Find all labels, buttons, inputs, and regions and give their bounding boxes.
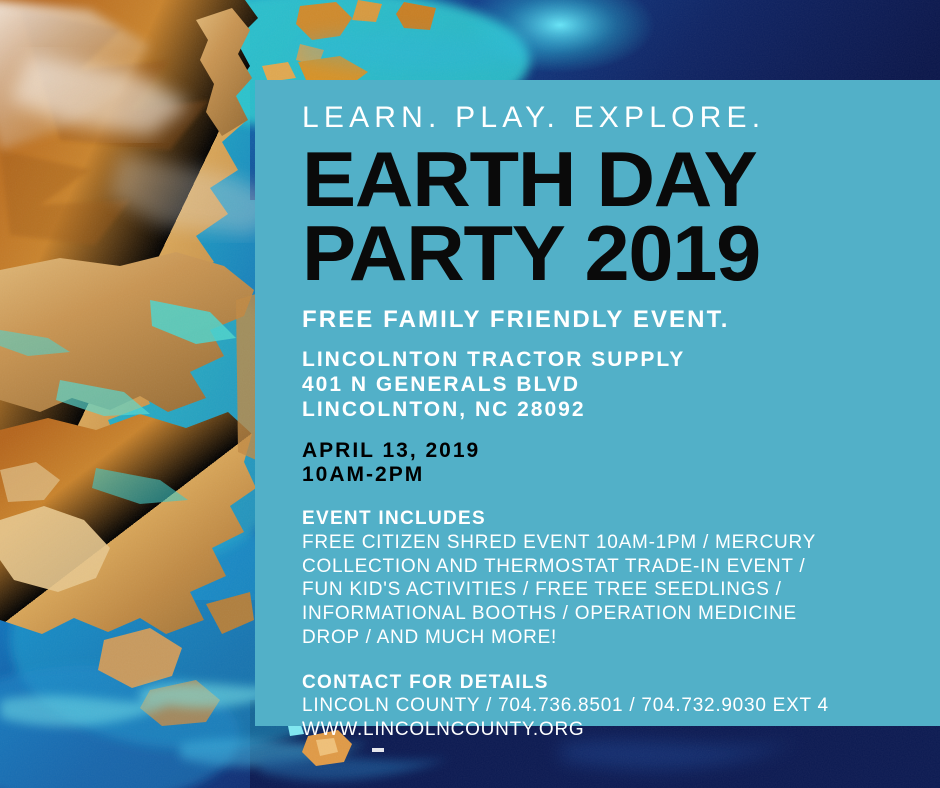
headline-line-1: EARTH DAY — [302, 143, 920, 216]
includes-line-4: INFORMATIONAL BOOTHS / OPERATION MEDICIN… — [302, 602, 896, 626]
venue-block: LINCOLNTON TRACTOR SUPPLY 401 N GENERALS… — [302, 348, 896, 422]
venue-street: 401 N GENERALS BLVD — [302, 373, 896, 398]
event-includes-block: EVENT INCLUDES FREE CITIZEN SHRED EVENT … — [302, 507, 896, 650]
earth-day-poster: LEARN. PLAY. EXPLORE. EARTH DAY PARTY 20… — [0, 0, 940, 788]
page-title: EARTH DAY PARTY 2019 — [302, 143, 920, 290]
eyebrow-tagline: LEARN. PLAY. EXPLORE. — [302, 102, 896, 134]
event-date: APRIL 13, 2019 — [302, 439, 896, 464]
includes-line-5: DROP / AND MUCH MORE! — [302, 626, 896, 650]
includes-line-3: FUN KID'S ACTIVITIES / FREE TREE SEEDLIN… — [302, 578, 896, 602]
free-event-tagline: FREE FAMILY FRIENDLY EVENT. — [302, 307, 896, 333]
event-time: 10AM-2PM — [302, 463, 896, 488]
contact-phone-line: LINCOLN COUNTY / 704.736.8501 / 704.732.… — [302, 694, 896, 718]
schedule-block: APRIL 13, 2019 10AM-2PM — [302, 439, 896, 489]
includes-line-2: COLLECTION AND THERMOSTAT TRADE-IN EVENT… — [302, 555, 896, 579]
contact-block: CONTACT FOR DETAILS LINCOLN COUNTY / 704… — [302, 671, 896, 743]
includes-line-1: FREE CITIZEN SHRED EVENT 10AM-1PM / MERC… — [302, 531, 896, 555]
contact-website[interactable]: WWW.LINCOLNCOUNTY.ORG — [302, 718, 896, 742]
event-includes-title: EVENT INCLUDES — [302, 507, 896, 531]
contact-title: CONTACT FOR DETAILS — [302, 671, 896, 695]
content-panel: LEARN. PLAY. EXPLORE. EARTH DAY PARTY 20… — [255, 80, 940, 726]
event-includes-body: FREE CITIZEN SHRED EVENT 10AM-1PM / MERC… — [302, 531, 896, 650]
headline-line-2: PARTY 2019 — [302, 217, 920, 290]
venue-city-state-zip: LINCOLNTON, NC 28092 — [302, 398, 896, 423]
venue-name: LINCOLNTON TRACTOR SUPPLY — [302, 348, 896, 373]
